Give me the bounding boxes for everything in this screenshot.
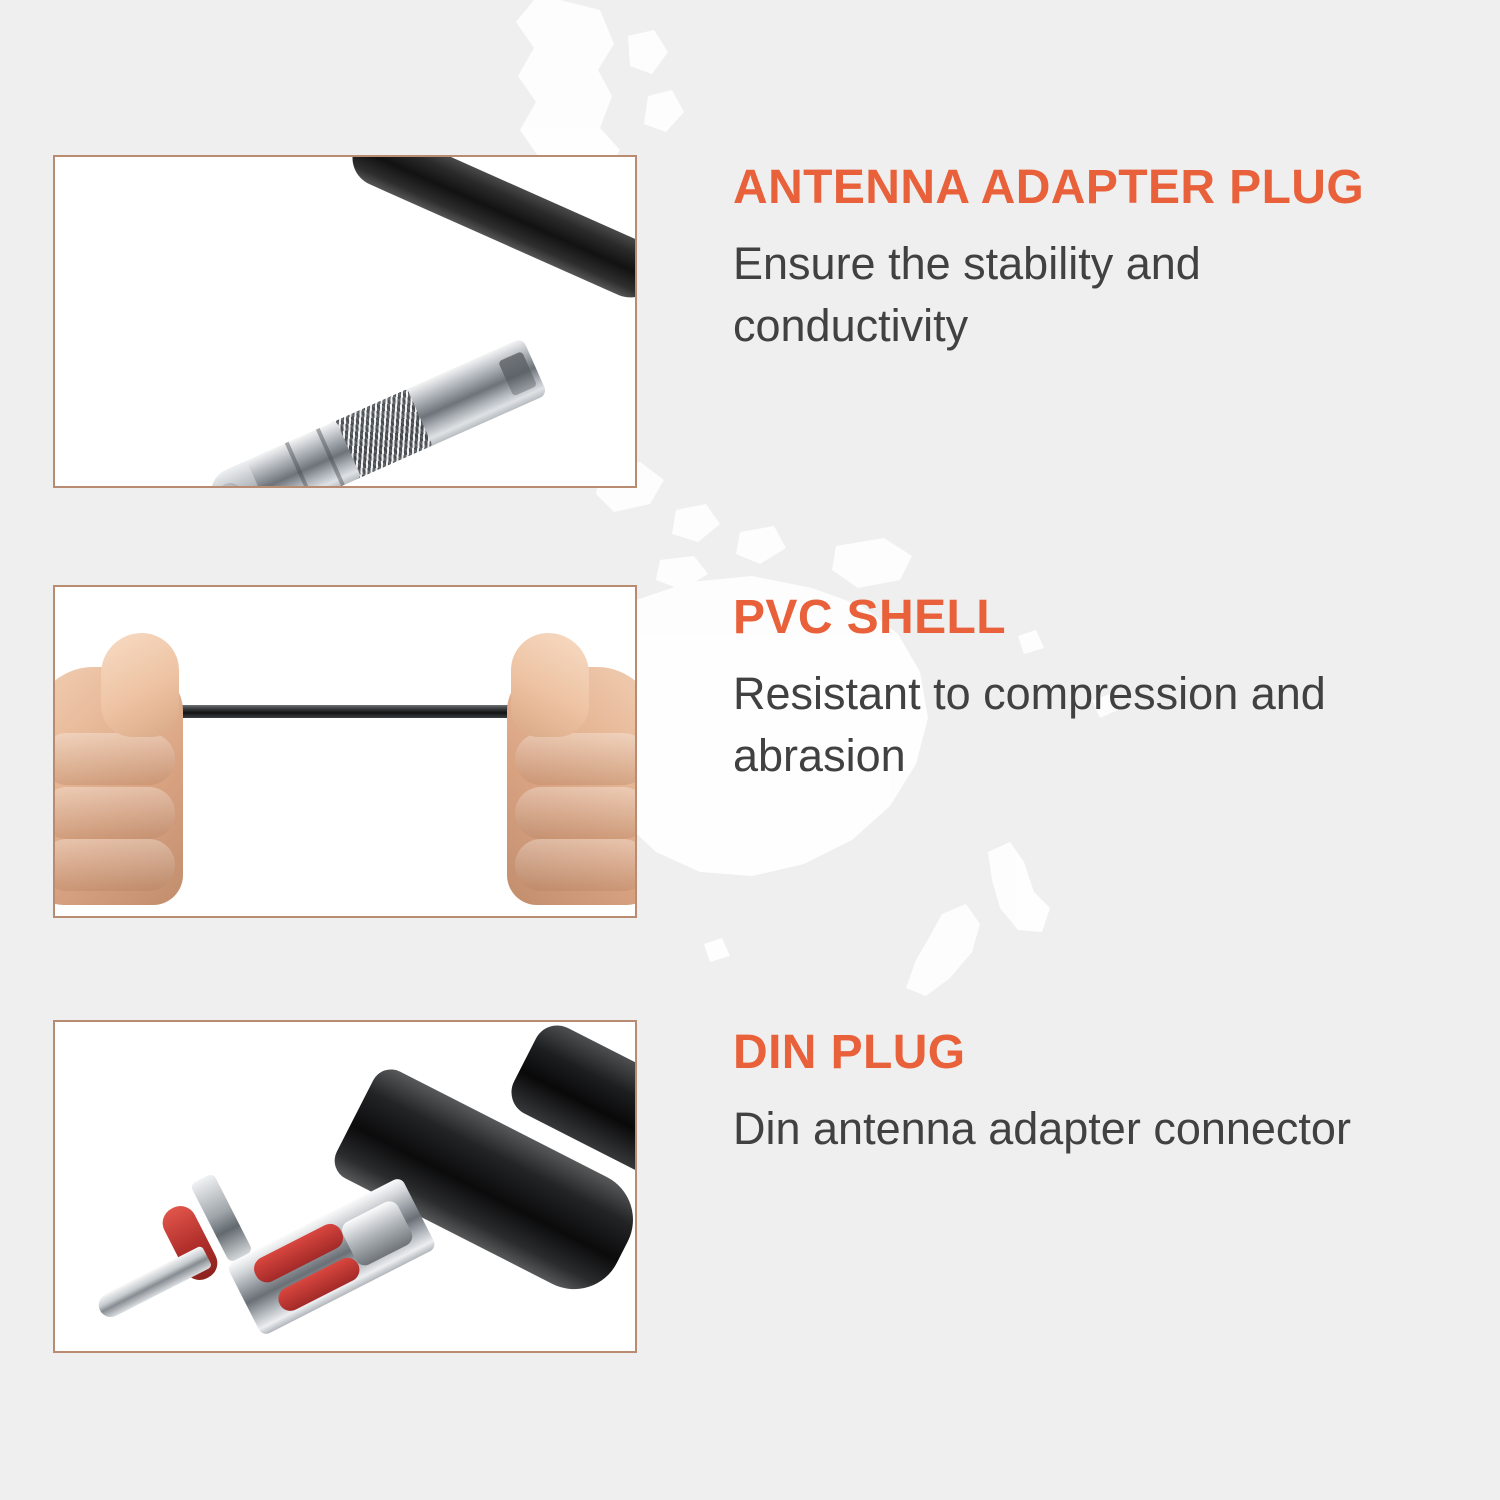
photo-stage	[55, 587, 635, 916]
antenna-plug-body	[221, 338, 548, 488]
feature-text-block: DIN PLUG Din antenna adapter connector	[637, 1020, 1500, 1160]
left-fist	[53, 629, 183, 905]
left-knuckle-2	[53, 787, 175, 839]
feature-title: PVC SHELL	[733, 593, 1500, 643]
feature-row-antenna-adapter-plug: ANTENNA ADAPTER PLUG Ensure the stabilit…	[0, 155, 1500, 488]
feature-text-block: ANTENNA ADAPTER PLUG Ensure the stabilit…	[637, 155, 1500, 357]
left-knuckle-3	[53, 839, 175, 891]
right-knuckle-2	[515, 787, 637, 839]
feature-description: Resistant to compression and abrasion	[733, 663, 1433, 787]
din-chrome-barrel	[226, 1176, 437, 1336]
left-thumb	[101, 633, 179, 737]
din-plug-photo	[53, 1020, 637, 1353]
stretched-cable-shape	[133, 705, 561, 718]
feature-description: Din antenna adapter connector	[733, 1098, 1433, 1160]
pvc-shell-photo	[53, 585, 637, 918]
feature-row-pvc-shell: PVC SHELL Resistant to compression and a…	[0, 585, 1500, 918]
feature-row-din-plug: DIN PLUG Din antenna adapter connector	[0, 1020, 1500, 1353]
left-knuckle-1	[53, 733, 175, 785]
coaxial-cable-shape	[343, 155, 637, 307]
feature-text-block: PVC SHELL Resistant to compression and a…	[637, 585, 1500, 787]
feature-title: ANTENNA ADAPTER PLUG	[733, 163, 1500, 213]
photo-stage	[55, 1022, 635, 1351]
din-center-pin	[95, 1245, 213, 1321]
right-fist	[507, 629, 637, 905]
product-feature-infographic: ANTENNA ADAPTER PLUG Ensure the stabilit…	[0, 0, 1500, 1500]
antenna-adapter-plug-photo	[53, 155, 637, 488]
photo-stage	[55, 157, 635, 486]
right-thumb	[511, 633, 589, 737]
feature-title: DIN PLUG	[733, 1028, 1500, 1078]
right-knuckle-3	[515, 839, 637, 891]
right-knuckle-1	[515, 733, 637, 785]
feature-description: Ensure the stability and conductivity	[733, 233, 1433, 357]
